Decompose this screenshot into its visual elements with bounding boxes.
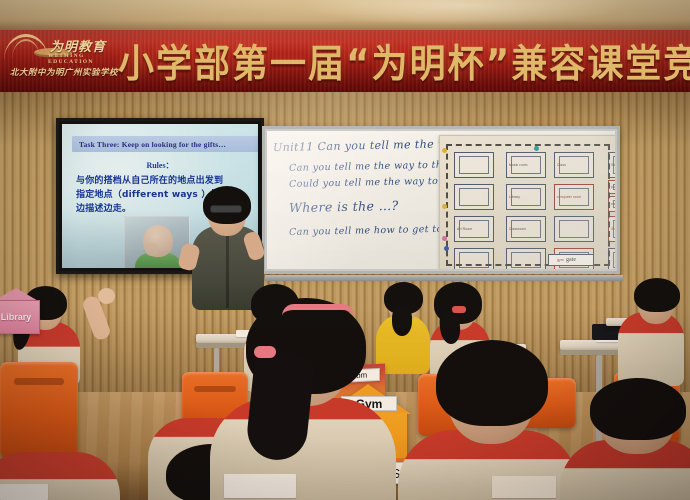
classroom-photo: 为明教育 WEIMING EDUCATION 北大附中为明广州实验学校 小学部第…: [0, 0, 690, 500]
whiteboard-marker-tray: [265, 275, 623, 281]
student-hair-foreground: [590, 378, 686, 440]
logo-school-subtitle: 北大附中为明广州实验学校: [10, 66, 118, 78]
library-sign-label: Library: [1, 312, 32, 322]
student-hair-foreground: [436, 340, 548, 426]
whiteboard-sheen: [267, 131, 615, 269]
whiteboard: Unit11 Can you tell me the way ? Can you…: [262, 126, 620, 274]
teacher-shirt-placket: [226, 228, 229, 308]
student-hair: [634, 278, 680, 312]
worksheet: [492, 476, 556, 498]
teacher-glasses-icon: [210, 205, 242, 213]
whiteboard-surface: Unit11 Can you tell me the way ? Can you…: [267, 131, 615, 269]
chair-slot: [194, 386, 236, 392]
banner-headline: 小学部第一届“为明杯”兼容课堂竞赛活动: [118, 30, 690, 93]
library-sign: Library: [0, 300, 40, 334]
chair-slot: [14, 378, 64, 385]
school-logo: 为明教育 WEIMING EDUCATION 北大附中为明广州实验学校: [4, 34, 130, 90]
chair: [0, 362, 78, 458]
headband: [282, 304, 354, 316]
hair-tie: [254, 346, 276, 358]
student-ponytail: [392, 306, 412, 336]
logo-english-name: WEIMING EDUCATION: [48, 53, 130, 65]
student-hand: [98, 288, 115, 304]
worksheet: [0, 484, 48, 500]
hair-tie: [452, 306, 466, 313]
worksheet: [224, 474, 296, 498]
